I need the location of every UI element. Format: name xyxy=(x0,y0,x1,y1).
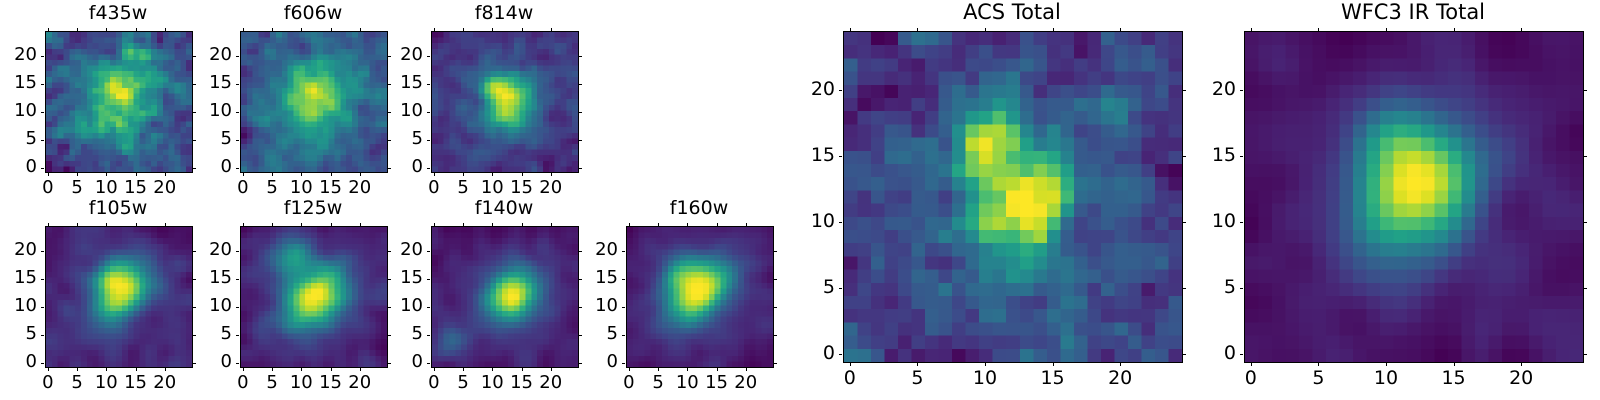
y-tick xyxy=(1240,90,1244,91)
y-tick xyxy=(1240,288,1244,289)
y-tick-right xyxy=(1583,90,1587,91)
x-tick-top xyxy=(1318,28,1319,32)
x-tick xyxy=(1454,362,1455,366)
y-tick xyxy=(1240,222,1244,223)
y-tick-label: 10 xyxy=(1176,212,1236,231)
x-tick-label: 0 xyxy=(1221,369,1281,388)
x-tick-label: 15 xyxy=(1424,369,1484,388)
figure-canvas: f435w0510152005101520f606w05101520051015… xyxy=(0,0,1600,400)
x-tick xyxy=(1318,362,1319,366)
y-tick-label: 15 xyxy=(1176,146,1236,165)
y-tick-label: 20 xyxy=(1176,80,1236,99)
x-tick-label: 20 xyxy=(1491,369,1551,388)
y-tick xyxy=(1240,156,1244,157)
y-tick-right xyxy=(1583,222,1587,223)
x-tick xyxy=(1251,362,1252,366)
x-tick-top xyxy=(1454,28,1455,32)
heatmap-image xyxy=(1245,32,1583,362)
x-tick-top xyxy=(1386,28,1387,32)
heatmap-axes xyxy=(1244,31,1584,363)
y-tick-right xyxy=(1583,156,1587,157)
y-tick xyxy=(1240,354,1244,355)
y-tick-label: 0 xyxy=(1176,344,1236,363)
x-tick-label: 10 xyxy=(1356,369,1416,388)
y-tick-right xyxy=(1583,354,1587,355)
x-tick-label: 5 xyxy=(1288,369,1348,388)
cutout-panel-wfc3-ir-total: WFC3 IR Total0510152005101520 xyxy=(0,0,1600,400)
y-tick-right xyxy=(1583,288,1587,289)
x-tick xyxy=(1521,362,1522,366)
x-tick-top xyxy=(1251,28,1252,32)
y-tick-label: 5 xyxy=(1176,278,1236,297)
x-tick-top xyxy=(1521,28,1522,32)
x-tick xyxy=(1386,362,1387,366)
panel-title: WFC3 IR Total xyxy=(1244,2,1582,23)
